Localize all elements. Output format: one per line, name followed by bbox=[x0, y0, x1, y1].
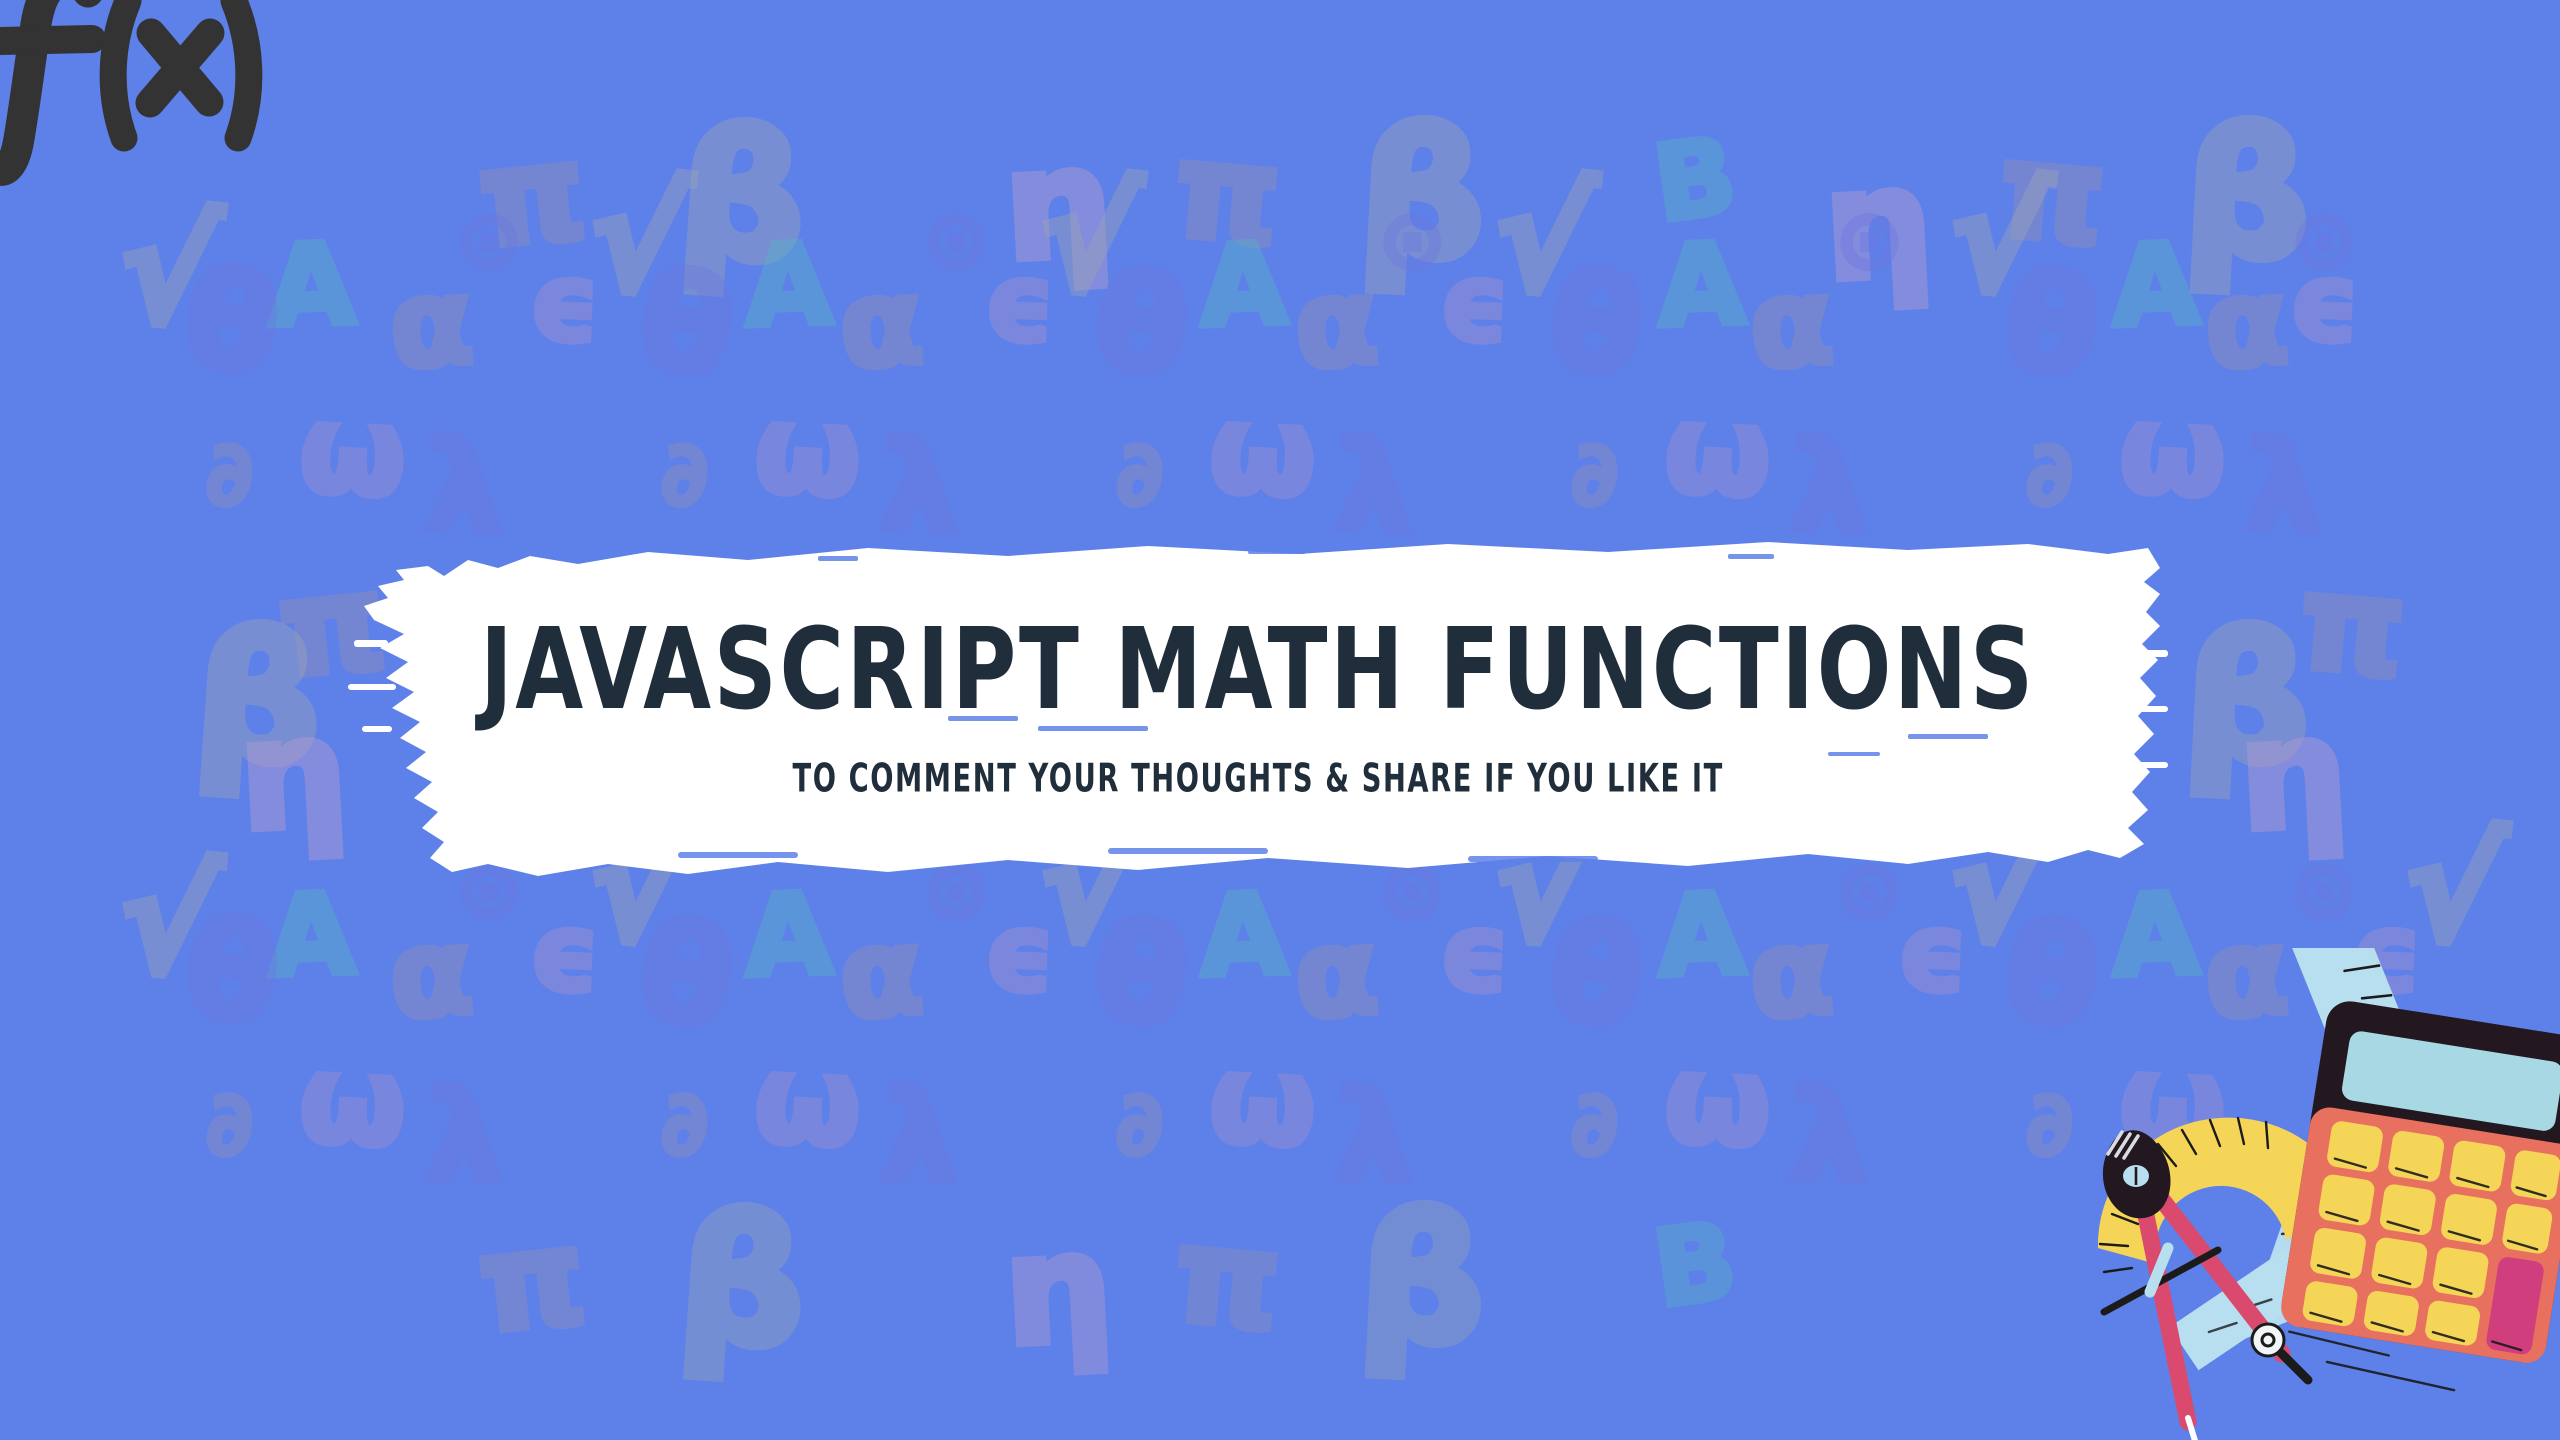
pattern-symbol-θ: θ bbox=[1541, 902, 1652, 1049]
pattern-symbol-⊙: ⊙ bbox=[2290, 200, 2359, 282]
pattern-symbol-A: A bbox=[1656, 879, 1747, 994]
title-banner: JavaScript Math Functions To comment you… bbox=[348, 520, 2168, 895]
pattern-symbol-√: √ bbox=[1943, 163, 2054, 317]
pattern-symbol-θ: θ bbox=[1086, 902, 1197, 1049]
pattern-symbol-η: η bbox=[1001, 127, 1116, 282]
pattern-symbol-η: η bbox=[1001, 1212, 1116, 1367]
pattern-symbol-α: α bbox=[386, 262, 477, 387]
page-title: JavaScript Math Functions bbox=[480, 614, 2036, 726]
pattern-symbol-η: η bbox=[1821, 147, 1936, 302]
pattern-symbol-∂: ∂ bbox=[2021, 428, 2076, 520]
pattern-symbol-β: β bbox=[674, 1191, 811, 1374]
pattern-symbol-θ: θ bbox=[1541, 252, 1652, 399]
pattern-symbol-λ: λ bbox=[2243, 424, 2326, 552]
pattern-symbol-π: π bbox=[473, 1210, 591, 1352]
pattern-symbol-α: α bbox=[1291, 912, 1382, 1037]
pattern-symbol-α: α bbox=[2201, 262, 2292, 387]
pattern-symbol-β: β bbox=[1356, 105, 1490, 286]
pattern-symbol-⊙: ⊙ bbox=[1378, 200, 1447, 282]
pattern-symbol-α: α bbox=[386, 912, 477, 1037]
pattern-symbol-α: α bbox=[836, 262, 927, 387]
pattern-symbol-A: A bbox=[266, 879, 357, 994]
pattern-symbol-π: π bbox=[2294, 556, 2410, 697]
pattern-symbol-η: η bbox=[2236, 697, 2351, 852]
pattern-symbol-A: A bbox=[743, 879, 834, 994]
pattern-symbol-√: √ bbox=[1488, 163, 1599, 317]
pattern-symbol-ϵ: ϵ bbox=[2288, 249, 2361, 359]
pattern-symbol-A: A bbox=[2110, 229, 2201, 344]
pattern-symbol-⊙: ⊙ bbox=[2290, 850, 2359, 932]
pattern-symbol-A: A bbox=[1198, 879, 1289, 994]
pattern-symbol-α: α bbox=[836, 912, 927, 1037]
pattern-symbol-ϵ: ϵ bbox=[528, 899, 601, 1009]
pattern-symbol-α: α bbox=[1291, 262, 1382, 387]
pattern-symbol-ϵ: ϵ bbox=[1438, 899, 1511, 1009]
pattern-symbol-A: A bbox=[1656, 229, 1747, 344]
pattern-symbol-ω: ω bbox=[752, 1037, 864, 1164]
pattern-symbol-ϵ: ϵ bbox=[983, 899, 1056, 1009]
pattern-symbol-√: √ bbox=[1033, 163, 1144, 317]
poster-canvas: πβηπβBηπβ√A⊙ϵ√θαA⊙ϵ√θαA⊙ϵ√θαA⊙ϵ√θαA⊙θαω∂… bbox=[0, 0, 2560, 1440]
pattern-symbol-∂: ∂ bbox=[656, 428, 711, 520]
pattern-symbol-θ: θ bbox=[176, 249, 287, 396]
pattern-symbol-ω: ω bbox=[752, 387, 864, 514]
pattern-symbol-ϵ: ϵ bbox=[1896, 899, 1969, 1009]
pattern-symbol-∂: ∂ bbox=[1111, 1078, 1166, 1170]
pattern-symbol-β: β bbox=[190, 608, 327, 791]
pattern-symbol-B: B bbox=[1648, 1208, 1742, 1323]
pattern-symbol-ϵ: ϵ bbox=[983, 249, 1056, 359]
pattern-symbol-ω: ω bbox=[297, 387, 409, 514]
pattern-symbol-θ: θ bbox=[631, 252, 742, 399]
pattern-symbol-∂: ∂ bbox=[1566, 1078, 1621, 1170]
pattern-symbol-B: B bbox=[1648, 123, 1742, 238]
pattern-symbol-ω: ω bbox=[2117, 387, 2229, 514]
pattern-symbol-β: β bbox=[1356, 1190, 1490, 1371]
pattern-symbol-√: √ bbox=[113, 845, 224, 999]
pattern-symbol-∂: ∂ bbox=[201, 1078, 256, 1170]
pattern-symbol-A: A bbox=[1198, 229, 1289, 344]
pattern-symbol-A: A bbox=[266, 229, 357, 344]
pattern-symbol-ω: ω bbox=[1662, 387, 1774, 514]
pattern-symbol-θ: θ bbox=[1996, 252, 2107, 399]
pattern-symbol-π: π bbox=[1169, 1209, 1285, 1350]
pattern-symbol-π: π bbox=[473, 125, 591, 267]
pattern-symbol-λ: λ bbox=[1788, 1074, 1871, 1202]
math-tools-illustration bbox=[2046, 948, 2560, 1440]
pattern-symbol-⊙: ⊙ bbox=[1835, 200, 1904, 282]
pattern-symbol-∂: ∂ bbox=[201, 428, 256, 520]
pattern-symbol-⊙: ⊙ bbox=[455, 200, 524, 282]
calculator-icon bbox=[2272, 998, 2560, 1403]
pattern-symbol-A: A bbox=[743, 229, 834, 344]
pattern-symbol-β: β bbox=[2181, 609, 2315, 790]
fx-function-logo bbox=[0, 0, 288, 196]
pattern-symbol-∂: ∂ bbox=[656, 1078, 711, 1170]
pattern-symbol-∂: ∂ bbox=[1566, 428, 1621, 520]
pattern-symbol-θ: θ bbox=[1086, 252, 1197, 399]
pattern-symbol-λ: λ bbox=[878, 1074, 961, 1202]
page-subtitle: To comment your thoughts & share if you … bbox=[792, 760, 1723, 799]
pattern-symbol-ϵ: ϵ bbox=[528, 249, 601, 359]
pattern-symbol-⊙: ⊙ bbox=[922, 200, 991, 282]
pattern-symbol-α: α bbox=[1746, 262, 1837, 387]
pattern-symbol-∂: ∂ bbox=[1111, 428, 1166, 520]
pattern-symbol-α: α bbox=[1746, 912, 1837, 1037]
pattern-symbol-√: √ bbox=[113, 195, 224, 349]
pattern-symbol-θ: θ bbox=[176, 899, 287, 1046]
pattern-symbol-η: η bbox=[236, 697, 351, 852]
pattern-symbol-β: β bbox=[2181, 105, 2315, 286]
pattern-symbol-λ: λ bbox=[1333, 1074, 1416, 1202]
pattern-symbol-ω: ω bbox=[297, 1037, 409, 1164]
pattern-symbol-π: π bbox=[1169, 124, 1285, 265]
pattern-symbol-√: √ bbox=[2398, 813, 2509, 967]
pattern-symbol-ω: ω bbox=[1207, 387, 1319, 514]
pattern-symbol-ϵ: ϵ bbox=[1438, 249, 1511, 359]
pattern-symbol-λ: λ bbox=[423, 1074, 506, 1202]
pattern-symbol-π: π bbox=[1994, 124, 2110, 265]
pattern-symbol-β: β bbox=[674, 106, 811, 289]
banner-text-block: JavaScript Math Functions To comment you… bbox=[348, 520, 2168, 895]
pattern-symbol-√: √ bbox=[583, 163, 694, 317]
pattern-symbol-θ: θ bbox=[631, 902, 742, 1049]
pattern-symbol-ω: ω bbox=[1662, 1037, 1774, 1164]
pattern-symbol-ω: ω bbox=[1207, 1037, 1319, 1164]
